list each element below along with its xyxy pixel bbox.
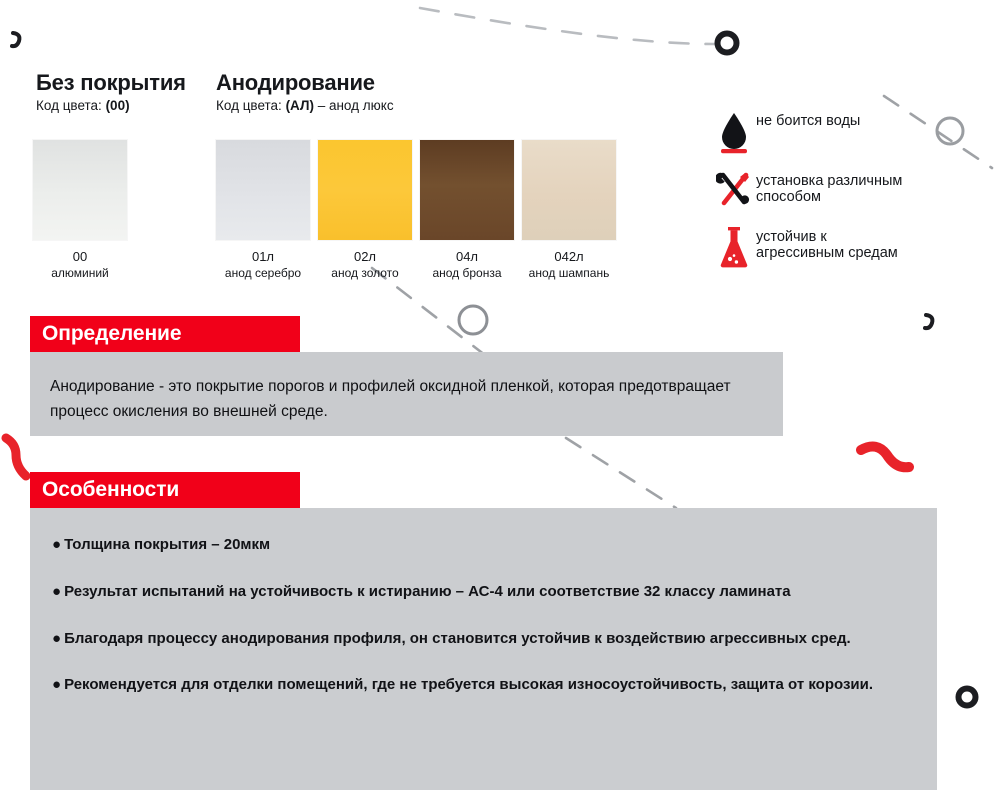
deco-circle-center bbox=[459, 306, 487, 334]
deco-squiggle-red-right bbox=[861, 446, 909, 467]
legend-label: не боится воды bbox=[756, 110, 860, 129]
legend-label: устойчив к агрессивным средам bbox=[756, 226, 898, 261]
uncoated-code-value: (00) bbox=[106, 98, 130, 113]
feature-text: Благодаря процессу анодирования профиля,… bbox=[64, 630, 851, 647]
column-title-anodized: Анодирование bbox=[216, 70, 375, 96]
column-title-uncoated: Без покрытия bbox=[36, 70, 186, 96]
swatch-code: 04л bbox=[420, 249, 514, 264]
feature-text: Толщина покрытия – 20мкм bbox=[64, 536, 270, 553]
swatch-name: анод золото bbox=[318, 266, 412, 280]
deco-ring-top bbox=[718, 34, 737, 53]
definition-banner: Определение bbox=[30, 316, 300, 352]
crossed-tools-icon bbox=[712, 170, 756, 210]
legend-item-water: не боится воды bbox=[712, 110, 992, 156]
swatch-chip bbox=[318, 140, 412, 240]
swatch-chip bbox=[216, 140, 310, 240]
list-item: ●Рекомендуется для отделки помещений, гд… bbox=[52, 674, 917, 697]
list-item: ●Результат испытаний на устойчивость к и… bbox=[52, 581, 917, 604]
swatch-042l-champagne[interactable]: 042л анод шампань bbox=[522, 140, 616, 280]
legend-label-line2: способом bbox=[756, 189, 821, 205]
swatch-02l-gold[interactable]: 02л анод золото bbox=[318, 140, 412, 280]
infographic-page: Без покрытия Код цвета: (00) Анодировани… bbox=[0, 0, 1000, 800]
water-drop-icon bbox=[712, 110, 756, 156]
legend-label-line2: агрессивным средам bbox=[756, 245, 898, 261]
uncoated-code-prefix: Код цвета: bbox=[36, 98, 106, 113]
legend-item-chemical: устойчив к агрессивным средам bbox=[712, 226, 992, 270]
swatch-00-aluminium[interactable]: 00 алюминий bbox=[33, 140, 127, 280]
legend-item-installation: установка различным способом bbox=[712, 170, 992, 210]
list-item: ●Толщина покрытия – 20мкм bbox=[52, 534, 917, 557]
swatch-name: алюминий bbox=[33, 266, 127, 280]
swatch-code: 01л bbox=[216, 249, 310, 264]
features-panel: ●Толщина покрытия – 20мкм ●Результат исп… bbox=[30, 508, 937, 790]
deco-comma-left bbox=[12, 33, 19, 46]
feature-text: Результат испытаний на устойчивость к ис… bbox=[64, 583, 791, 600]
column-subtitle-uncoated: Код цвета: (00) bbox=[36, 98, 130, 113]
swatch-code: 042л bbox=[522, 249, 616, 264]
swatch-chip bbox=[33, 140, 127, 240]
deco-ring-bottom bbox=[959, 689, 976, 706]
bullet-glyph: ● bbox=[52, 630, 61, 647]
swatch-01l-silver[interactable]: 01л анод серебро bbox=[216, 140, 310, 280]
deco-comma-right bbox=[925, 315, 932, 328]
features-banner: Особенности bbox=[30, 472, 300, 508]
legend-label-line1: устойчив к bbox=[756, 229, 827, 245]
anodized-code-value: (АЛ) bbox=[286, 98, 314, 113]
bullet-glyph: ● bbox=[52, 536, 61, 553]
swatch-04l-bronze[interactable]: 04л анод бронза bbox=[420, 140, 514, 280]
anodized-code-prefix: Код цвета: bbox=[216, 98, 286, 113]
dashed-curve-top bbox=[420, 8, 714, 44]
deco-squiggle-red-left bbox=[6, 438, 26, 476]
feature-text: Рекомендуется для отделки помещений, где… bbox=[64, 676, 873, 693]
swatch-code: 02л bbox=[318, 249, 412, 264]
anodized-code-suffix: – анод люкс bbox=[314, 98, 394, 113]
swatch-code: 00 bbox=[33, 249, 127, 264]
swatch-name: анод шампань bbox=[522, 266, 616, 280]
swatch-name: анод серебро bbox=[216, 266, 310, 280]
definition-panel: Анодирование - это покрытие порогов и пр… bbox=[30, 352, 783, 436]
definition-text: Анодирование - это покрытие порогов и пр… bbox=[30, 352, 783, 424]
bullet-glyph: ● bbox=[52, 583, 61, 600]
legend-label: установка различным способом bbox=[756, 170, 902, 205]
swatch-chip bbox=[420, 140, 514, 240]
swatch-name: анод бронза bbox=[420, 266, 514, 280]
swatch-chip bbox=[522, 140, 616, 240]
flask-icon bbox=[712, 226, 756, 270]
bullet-glyph: ● bbox=[52, 676, 61, 693]
legend-label-line1: установка различным bbox=[756, 173, 902, 189]
features-list: ●Толщина покрытия – 20мкм ●Результат исп… bbox=[30, 508, 937, 697]
feature-legend: не боится воды установка различным спосо… bbox=[712, 110, 992, 284]
dashed-diagonal-lower bbox=[566, 438, 676, 508]
list-item: ●Благодаря процессу анодирования профиля… bbox=[52, 628, 917, 651]
column-subtitle-anodized: Код цвета: (АЛ) – анод люкс bbox=[216, 98, 394, 113]
